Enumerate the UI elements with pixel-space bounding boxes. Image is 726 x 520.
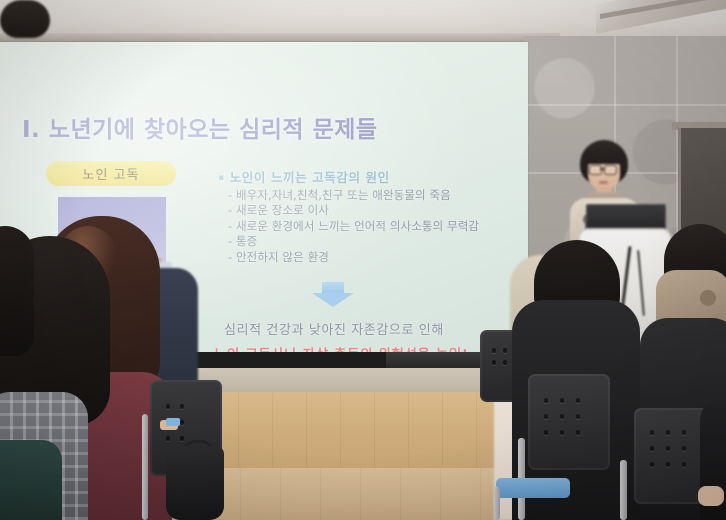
screen-housing-lip	[0, 33, 560, 42]
slide-conclusion-line-1: 심리적 건강과 낮아진 자존감으로 인해	[224, 319, 444, 338]
audience-coat	[0, 440, 62, 520]
slide-heading: ▪노인이 느끼는 고독감의 원인	[218, 167, 390, 186]
audience-hair	[0, 226, 34, 356]
slide-bullet-list: - 배우자,자녀,친척,친구 또는 애완동물의 죽음 - 새로운 장소로 이사 …	[228, 188, 479, 265]
list-item: - 새로운 장소로 이사	[228, 203, 479, 218]
lecture-hall-photo: Ⅰ. 노년기에 찾아오는 심리적 문제들 노인 고독 ▪노인이 느끼는 고독감의…	[0, 0, 726, 520]
scarf-knot	[700, 290, 716, 306]
down-arrow-head-icon	[312, 293, 354, 307]
list-item: - 새로운 환경에서 느끼는 언어적 의사소통의 무력감	[228, 219, 479, 234]
slide-topic-pill: 노인 고독	[46, 161, 176, 186]
bullet-marker-icon: ▪	[218, 173, 225, 183]
slide-topic-pill-label: 노인 고독	[83, 164, 140, 183]
slide-heading-label: 노인이 느끼는 고독감의 원인	[230, 170, 390, 185]
wall-seam-horizontal	[524, 104, 726, 106]
audience-member-suit-man	[0, 0, 50, 38]
glasses-icon	[589, 165, 602, 175]
presenter-fringe	[582, 146, 626, 164]
backpack	[166, 446, 224, 520]
glasses-icon	[604, 165, 617, 175]
smartphone-icon	[166, 418, 180, 426]
presenter-mouth	[599, 181, 608, 184]
list-item: - 안전하지 않은 환경	[228, 250, 479, 265]
slide-title: Ⅰ. 노년기에 찾아오는 심리적 문제들	[22, 110, 378, 144]
audience-hair	[0, 0, 50, 38]
glasses-bridge	[600, 168, 605, 170]
audience-hand	[698, 486, 724, 506]
list-item: - 배우자,자녀,친척,친구 또는 애완동물의 죽음	[228, 188, 479, 203]
list-item: - 통증	[228, 234, 479, 249]
